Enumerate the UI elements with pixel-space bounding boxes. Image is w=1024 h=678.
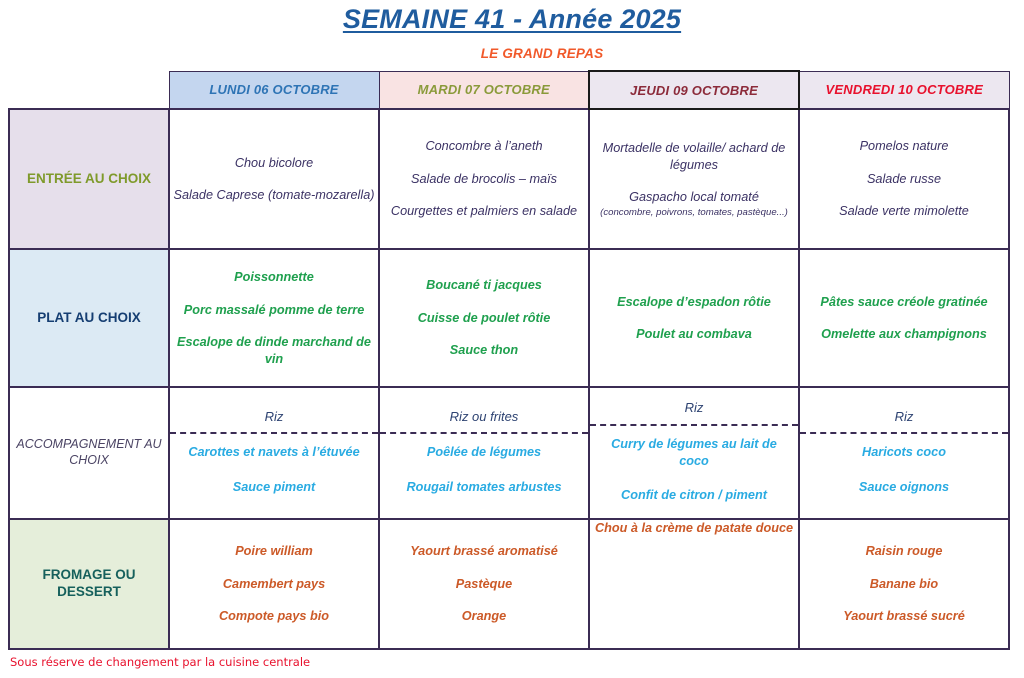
- page-title: SEMAINE 41 - Année 2025: [343, 4, 681, 35]
- menu-item: Cuisse de poulet rôtie: [380, 310, 588, 327]
- cell-dessert-vendredi: Raisin rouge Banane bio Yaourt brassé su…: [799, 519, 1009, 649]
- accompagnement-base: Riz: [800, 402, 1008, 433]
- day-header-vendredi: VENDREDI 10 OCTOBRE: [799, 71, 1009, 109]
- menu-item: Curry de légumes au lait de coco: [596, 436, 792, 469]
- cell-entree-vendredi: Pomelos nature Salade russe Salade verte…: [799, 109, 1009, 249]
- subtitle-label: LE GRAND REPAS: [481, 46, 604, 61]
- menu-item: Escalope d’espadon rôtie: [590, 294, 798, 311]
- accompagnement-options: Haricots coco Sauce oignons: [800, 432, 1008, 504]
- day-header-jeudi: JEUDI 09 OCTOBRE: [589, 71, 799, 109]
- menu-item: Poissonnette: [170, 269, 378, 286]
- menu-item: Concombre à l’aneth: [380, 138, 588, 155]
- cell-entree-lundi: Chou bicolore Salade Caprese (tomate-moz…: [169, 109, 379, 249]
- subtitle-block: LE GRAND REPAS: [0, 45, 1024, 63]
- menu-item-text: Gaspacho local tomaté: [629, 190, 759, 204]
- cell-accompagnement-lundi: Riz Carottes et navets à l’étuvée Sauce …: [169, 387, 379, 519]
- menu-item: Yaourt brassé aromatisé: [380, 543, 588, 560]
- accompagnement-options: Curry de légumes au lait de coco Confit …: [590, 424, 798, 513]
- menu-item: Pâtes sauce créole gratinée: [800, 294, 1008, 311]
- table-header-row: LUNDI 06 OCTOBRE MARDI 07 OCTOBRE JEUDI …: [9, 71, 1009, 109]
- cell-dessert-jeudi: Chou à la crème de patate douce: [589, 519, 799, 649]
- menu-item: Porc massalé pomme de terre: [170, 302, 378, 319]
- menu-item: Banane bio: [800, 576, 1008, 593]
- menu-item: Poire william: [170, 543, 378, 560]
- menu-item: Sauce piment: [176, 479, 372, 496]
- menu-item: Salade russe: [800, 171, 1008, 188]
- row-label-entree: ENTRÉE AU CHOIX: [9, 109, 169, 249]
- menu-item: Yaourt brassé sucré: [800, 608, 1008, 625]
- menu-item: Courgettes et palmiers en salade: [380, 203, 588, 220]
- menu-item: Haricots coco: [806, 444, 1002, 461]
- table-row-entree: ENTRÉE AU CHOIX Chou bicolore Salade Cap…: [9, 109, 1009, 249]
- menu-item: Gaspacho local tomaté (concombre, poivro…: [590, 189, 798, 218]
- cell-dessert-mardi: Yaourt brassé aromatisé Pastèque Orange: [379, 519, 589, 649]
- table-row-accompagnement: ACCOMPAGNEMENT AU CHOIX Riz Carottes et …: [9, 387, 1009, 519]
- accompagnement-base: Riz ou frites: [380, 402, 588, 433]
- menu-item: Raisin rouge: [800, 543, 1008, 560]
- accompagnement-options: Carottes et navets à l’étuvée Sauce pime…: [170, 432, 378, 504]
- cell-accompagnement-vendredi: Riz Haricots coco Sauce oignons: [799, 387, 1009, 519]
- menu-item: Salade verte mimolette: [800, 203, 1008, 220]
- footer-disclaimer: Sous réserve de changement par la cuisin…: [10, 655, 310, 669]
- accompagnement-options: Poêlée de légumes Rougail tomates arbust…: [380, 432, 588, 504]
- menu-item: Omelette aux champignons: [800, 326, 1008, 343]
- menu-item: Sauce thon: [380, 342, 588, 359]
- row-label-plat: PLAT AU CHOIX: [9, 249, 169, 387]
- menu-item-subtext: (concombre, poivrons, tomates, pastèque.…: [590, 207, 798, 219]
- menu-item: Mortadelle de volaille/ achard de légume…: [590, 140, 798, 173]
- menu-item: Compote pays bio: [170, 608, 378, 625]
- menu-item: Confit de citron / piment: [596, 487, 792, 504]
- menu-item: Chou bicolore: [170, 155, 378, 172]
- menu-item: Carottes et navets à l’étuvée: [176, 444, 372, 461]
- accompagnement-base: Riz: [590, 393, 798, 424]
- cell-plat-lundi: Poissonnette Porc massalé pomme de terre…: [169, 249, 379, 387]
- menu-item: Rougail tomates arbustes: [386, 479, 582, 496]
- menu-item: Escalope de dinde marchand de vin: [170, 334, 378, 367]
- day-header-mardi: MARDI 07 OCTOBRE: [379, 71, 589, 109]
- cell-plat-vendredi: Pâtes sauce créole gratinée Omelette aux…: [799, 249, 1009, 387]
- cell-entree-jeudi: Mortadelle de volaille/ achard de légume…: [589, 109, 799, 249]
- menu-item: Salade Caprese (tomate-mozarella): [170, 187, 378, 204]
- menu-item: Poêlée de légumes: [386, 444, 582, 461]
- title-block: SEMAINE 41 - Année 2025: [0, 0, 1024, 35]
- menu-item: Pomelos nature: [800, 138, 1008, 155]
- menu-item: Boucané ti jacques: [380, 277, 588, 294]
- accompagnement-base: Riz: [170, 402, 378, 433]
- cell-dessert-lundi: Poire william Camembert pays Compote pay…: [169, 519, 379, 649]
- row-label-accompagnement: ACCOMPAGNEMENT AU CHOIX: [9, 387, 169, 519]
- menu-item: Orange: [380, 608, 588, 625]
- menu-item: Salade de brocolis – maïs: [380, 171, 588, 188]
- header-corner-blank: [9, 71, 169, 109]
- cell-accompagnement-mardi: Riz ou frites Poêlée de légumes Rougail …: [379, 387, 589, 519]
- table-row-dessert: FROMAGE OU DESSERT Poire william Camembe…: [9, 519, 1009, 649]
- cell-plat-jeudi: Escalope d’espadon rôtie Poulet au comba…: [589, 249, 799, 387]
- cell-accompagnement-jeudi: Riz Curry de légumes au lait de coco Con…: [589, 387, 799, 519]
- menu-item: Poulet au combava: [590, 326, 798, 343]
- menu-item: Pastèque: [380, 576, 588, 593]
- weekly-menu-table: LUNDI 06 OCTOBRE MARDI 07 OCTOBRE JEUDI …: [8, 70, 1010, 650]
- menu-item: Sauce oignons: [806, 479, 1002, 496]
- cell-plat-mardi: Boucané ti jacques Cuisse de poulet rôti…: [379, 249, 589, 387]
- cell-entree-mardi: Concombre à l’aneth Salade de brocolis –…: [379, 109, 589, 249]
- table-row-plat: PLAT AU CHOIX Poissonnette Porc massalé …: [9, 249, 1009, 387]
- menu-item: Chou à la crème de patate douce: [590, 520, 798, 537]
- row-label-dessert: FROMAGE OU DESSERT: [9, 519, 169, 649]
- menu-item: Camembert pays: [170, 576, 378, 593]
- day-header-lundi: LUNDI 06 OCTOBRE: [169, 71, 379, 109]
